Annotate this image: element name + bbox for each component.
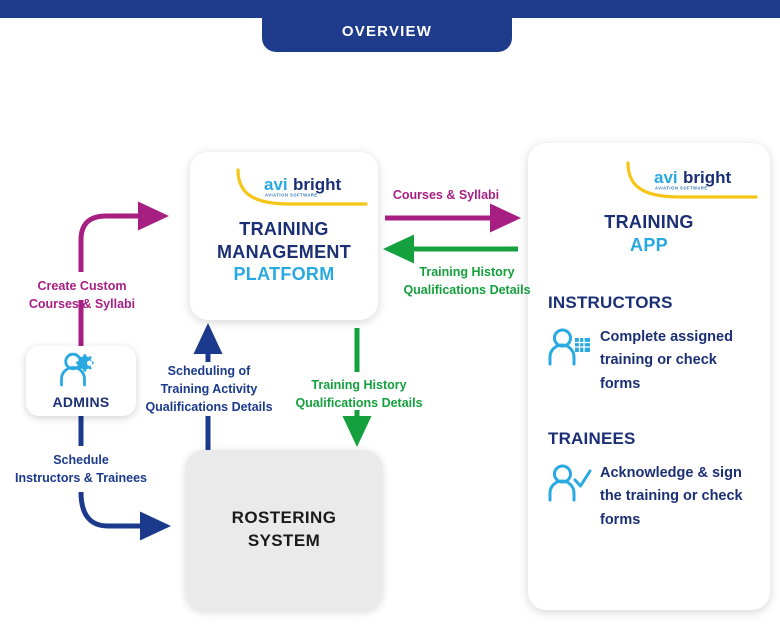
label-line-1: Create Custom [6, 277, 158, 295]
person-gear-icon [59, 352, 103, 393]
connector-label-history-qualifications: Training History Qualifications Details [286, 376, 432, 412]
label-line-1: Schedule [0, 451, 162, 469]
label-line-1: Training History [382, 263, 552, 281]
label-line-1: Courses & Syllabi [380, 186, 512, 204]
admins-box[interactable]: ADMINS [26, 346, 136, 416]
connector-label-courses-syllabi: Courses & Syllabi [380, 186, 512, 204]
label-line-3: Qualifications Details [136, 398, 282, 416]
diagram-canvas: OVERVIEW [0, 0, 780, 627]
connector-label-training-history-top: Training History Qualifications Details [382, 263, 552, 299]
connector-label-create-custom: Create Custom Courses & Syllabi [6, 277, 158, 313]
connector-label-schedule-instructors: Schedule Instructors & Trainees [0, 451, 162, 487]
person-gear-icon-svg [59, 352, 103, 388]
connector-lines [0, 0, 780, 627]
label-line-2: Qualifications Details [286, 394, 432, 412]
label-line-1: Training History [286, 376, 432, 394]
label-line-1: Scheduling of [136, 362, 282, 380]
label-line-2: Qualifications Details [382, 281, 552, 299]
label-line-2: Training Activity [136, 380, 282, 398]
label-line-2: Instructors & Trainees [0, 469, 162, 487]
admins-label: ADMINS [52, 394, 109, 410]
connector-label-scheduling-activity: Scheduling of Training Activity Qualific… [136, 362, 282, 416]
label-line-2: Courses & Syllabi [6, 295, 158, 313]
